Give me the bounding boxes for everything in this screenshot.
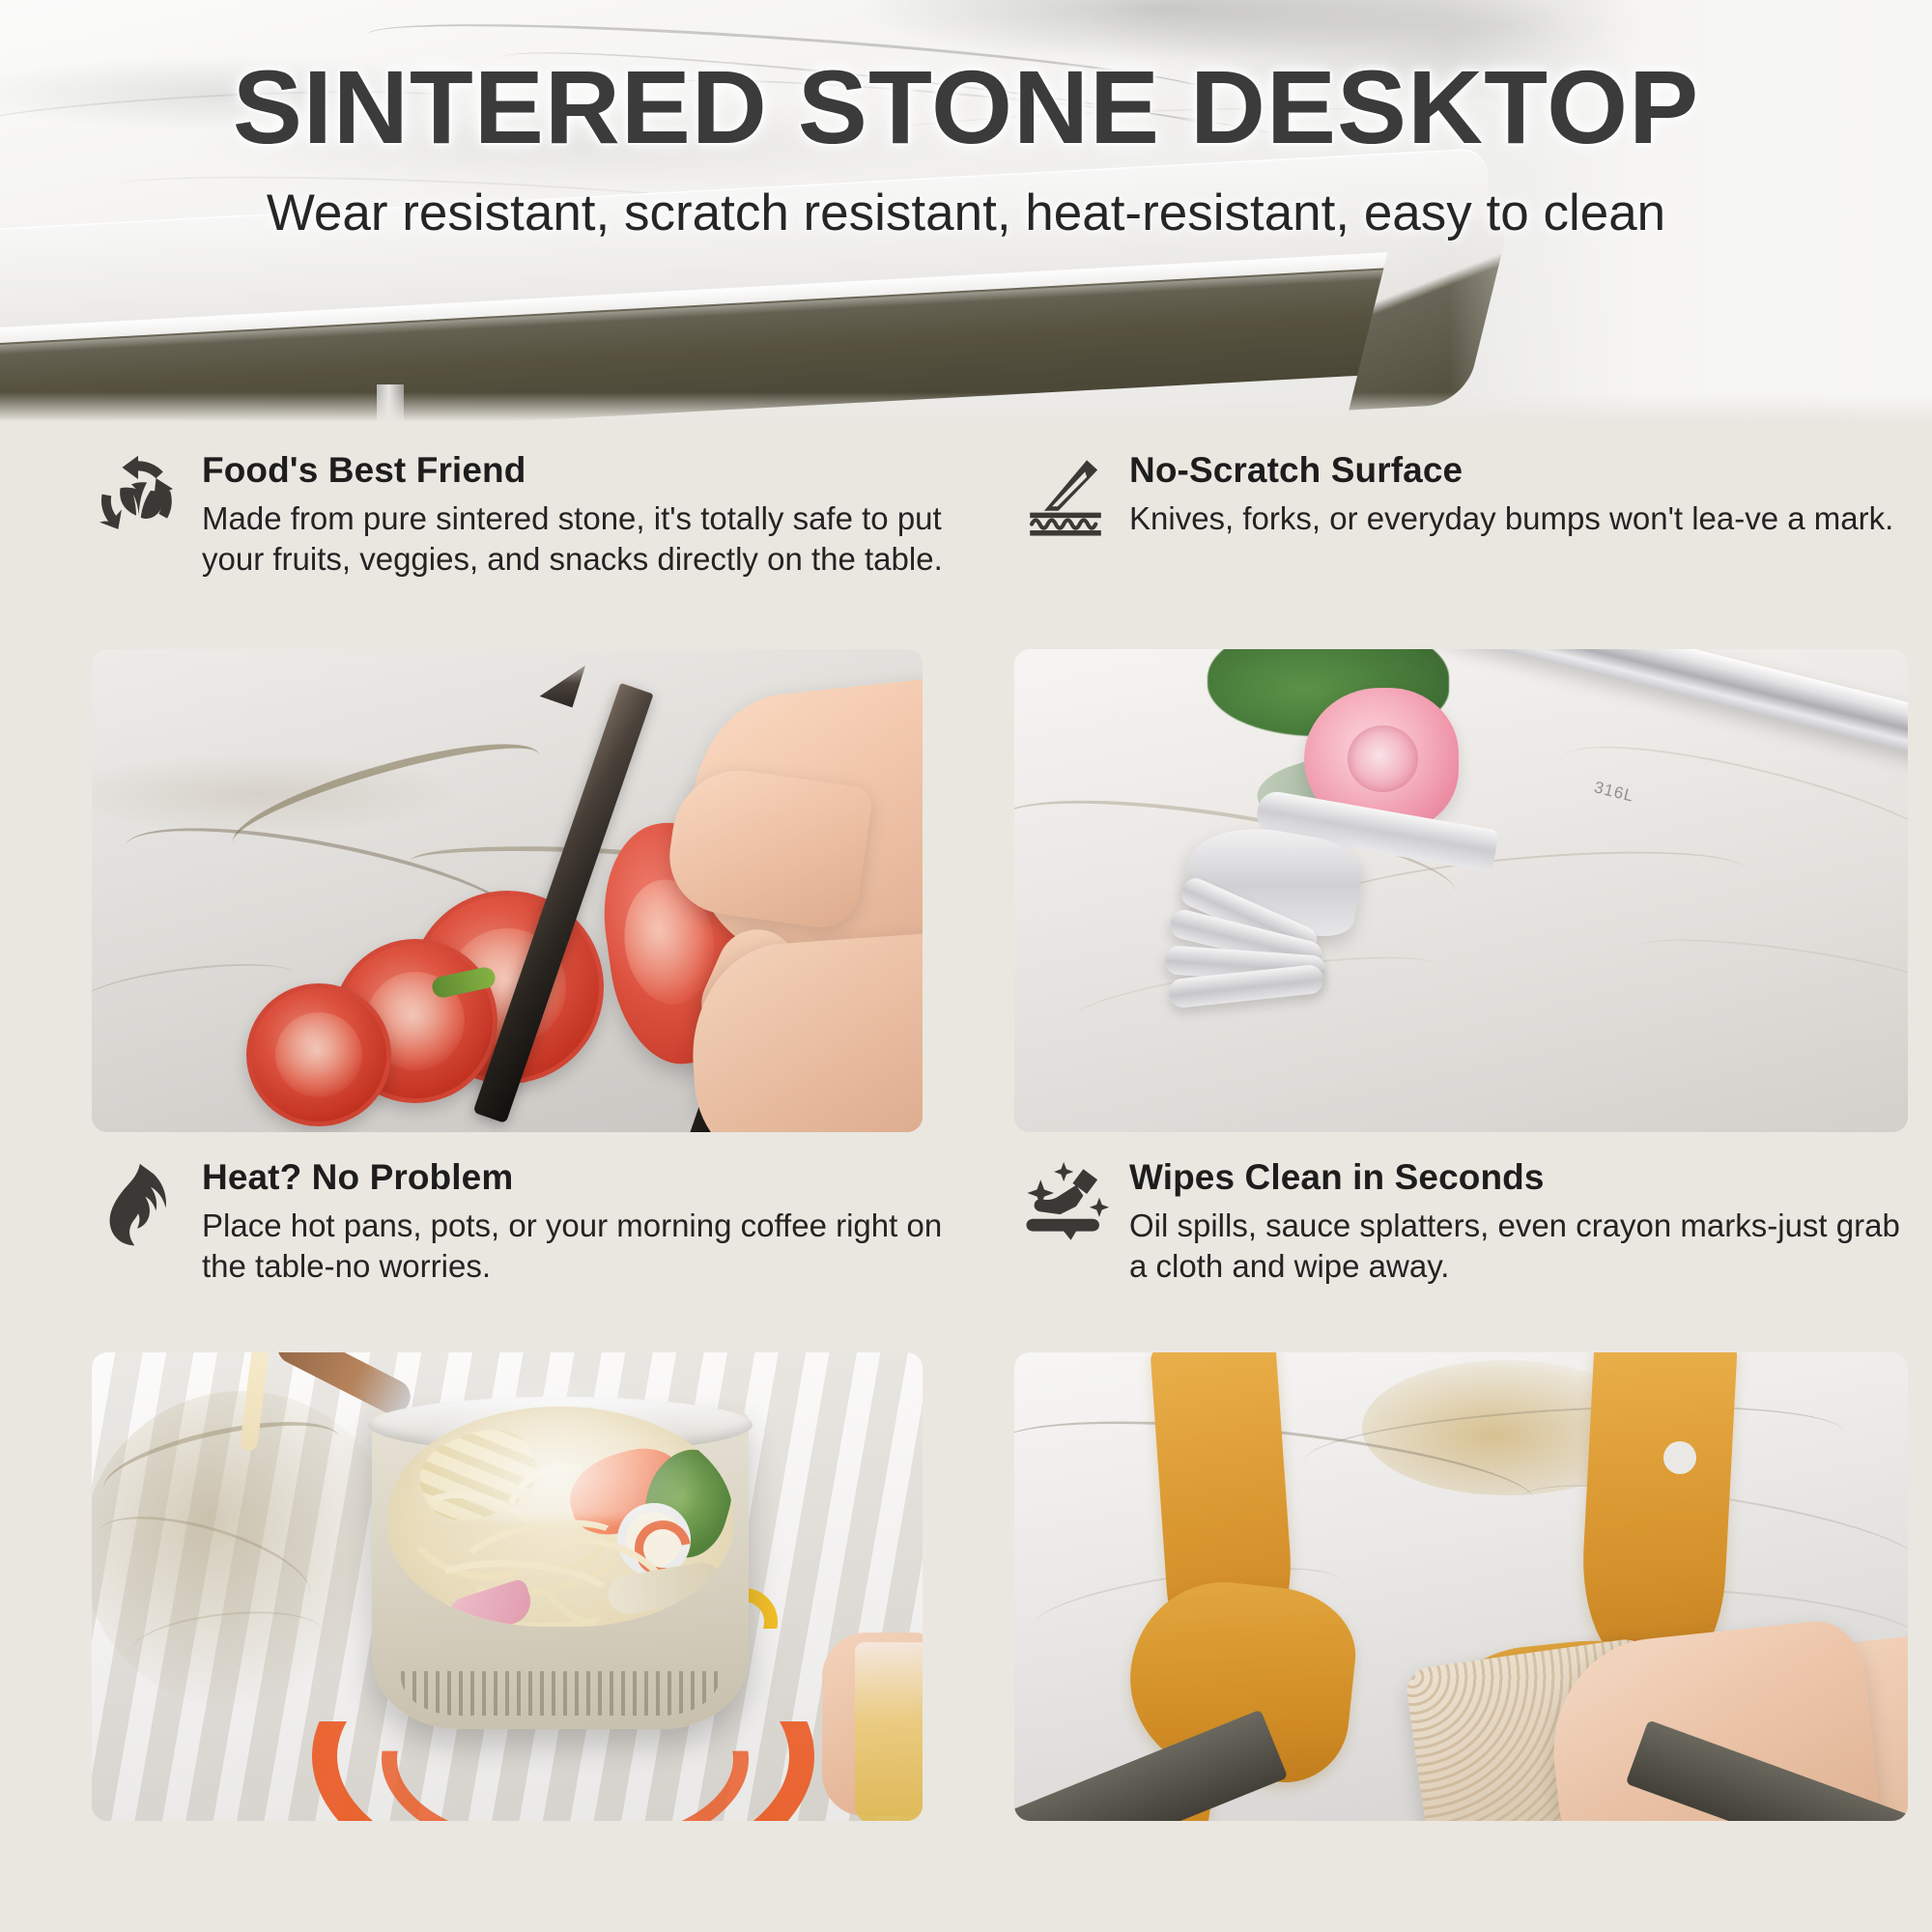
hot-noodle-pot-on-table-photo (92, 1352, 923, 1821)
feature-header: No-Scratch Surface Knives, forks, or eve… (1019, 449, 1908, 550)
feature-title: Food's Best Friend (202, 451, 961, 491)
feature-block-wipes-clean-in-seconds: Wipes Clean in Seconds Oil spills, sauce… (1019, 1156, 1908, 1288)
feature-title: Heat? No Problem (202, 1158, 961, 1198)
spill-gap (1663, 1441, 1696, 1474)
feature-block-no-scratch-surface: No-Scratch Surface Knives, forks, or eve… (1019, 449, 1908, 550)
feature-grid: Food's Best Friend Made from pure sinter… (0, 425, 1932, 1932)
wiping-hand-sparkle-icon (1019, 1156, 1112, 1257)
feature-body: Food's Best Friend Made from pure sinter… (202, 449, 961, 581)
feature-description: Oil spills, sauce splatters, even crayon… (1129, 1206, 1908, 1288)
recycle-leaf-icon (92, 449, 185, 550)
wiping-sauce-spill-with-cloth-photo (1014, 1352, 1908, 1821)
sauce-spill (1577, 1352, 1738, 1671)
tomato-slice (246, 983, 391, 1126)
tomato-slicing-on-marble-photo (92, 649, 923, 1132)
steam (411, 1376, 700, 1520)
feature-title: No-Scratch Surface (1129, 451, 1908, 491)
feature-header: Food's Best Friend Made from pure sinter… (92, 449, 961, 581)
feature-description: Place hot pans, pots, or your morning co… (202, 1206, 961, 1288)
pot-base-ridges (401, 1671, 720, 1716)
feature-header: Wipes Clean in Seconds Oil spills, sauce… (1019, 1156, 1908, 1288)
hero-bottom-fade (0, 392, 1932, 425)
feature-description: Knives, forks, or everyday bumps won't l… (1129, 498, 1908, 540)
flame-icon (92, 1156, 185, 1257)
feature-body: Heat? No Problem Place hot pans, pots, o… (202, 1156, 961, 1288)
drinking-glass (855, 1642, 923, 1821)
feature-body: Wipes Clean in Seconds Oil spills, sauce… (1129, 1156, 1908, 1288)
hero-banner: SINTERED STONE DESKTOP Wear resistant, s… (0, 0, 1932, 425)
feature-header: Heat? No Problem Place hot pans, pots, o… (92, 1156, 961, 1288)
page-title: SINTERED STONE DESKTOP (0, 46, 1932, 167)
feature-title: Wipes Clean in Seconds (1129, 1158, 1908, 1198)
infographic-page: SINTERED STONE DESKTOP Wear resistant, s… (0, 0, 1932, 1932)
feature-description: Made from pure sintered stone, it's tota… (202, 498, 961, 581)
page-subtitle: Wear resistant, scratch resistant, heat-… (0, 184, 1932, 242)
feature-body: No-Scratch Surface Knives, forks, or eve… (1129, 449, 1908, 539)
feature-block-heat-no-problem: Heat? No Problem Place hot pans, pots, o… (92, 1156, 961, 1288)
blade-on-surface-icon (1019, 449, 1112, 550)
fork-on-marble-with-rose-photo: 316L (1014, 649, 1908, 1132)
feature-block-foods-best-friend: Food's Best Friend Made from pure sinter… (92, 449, 961, 581)
